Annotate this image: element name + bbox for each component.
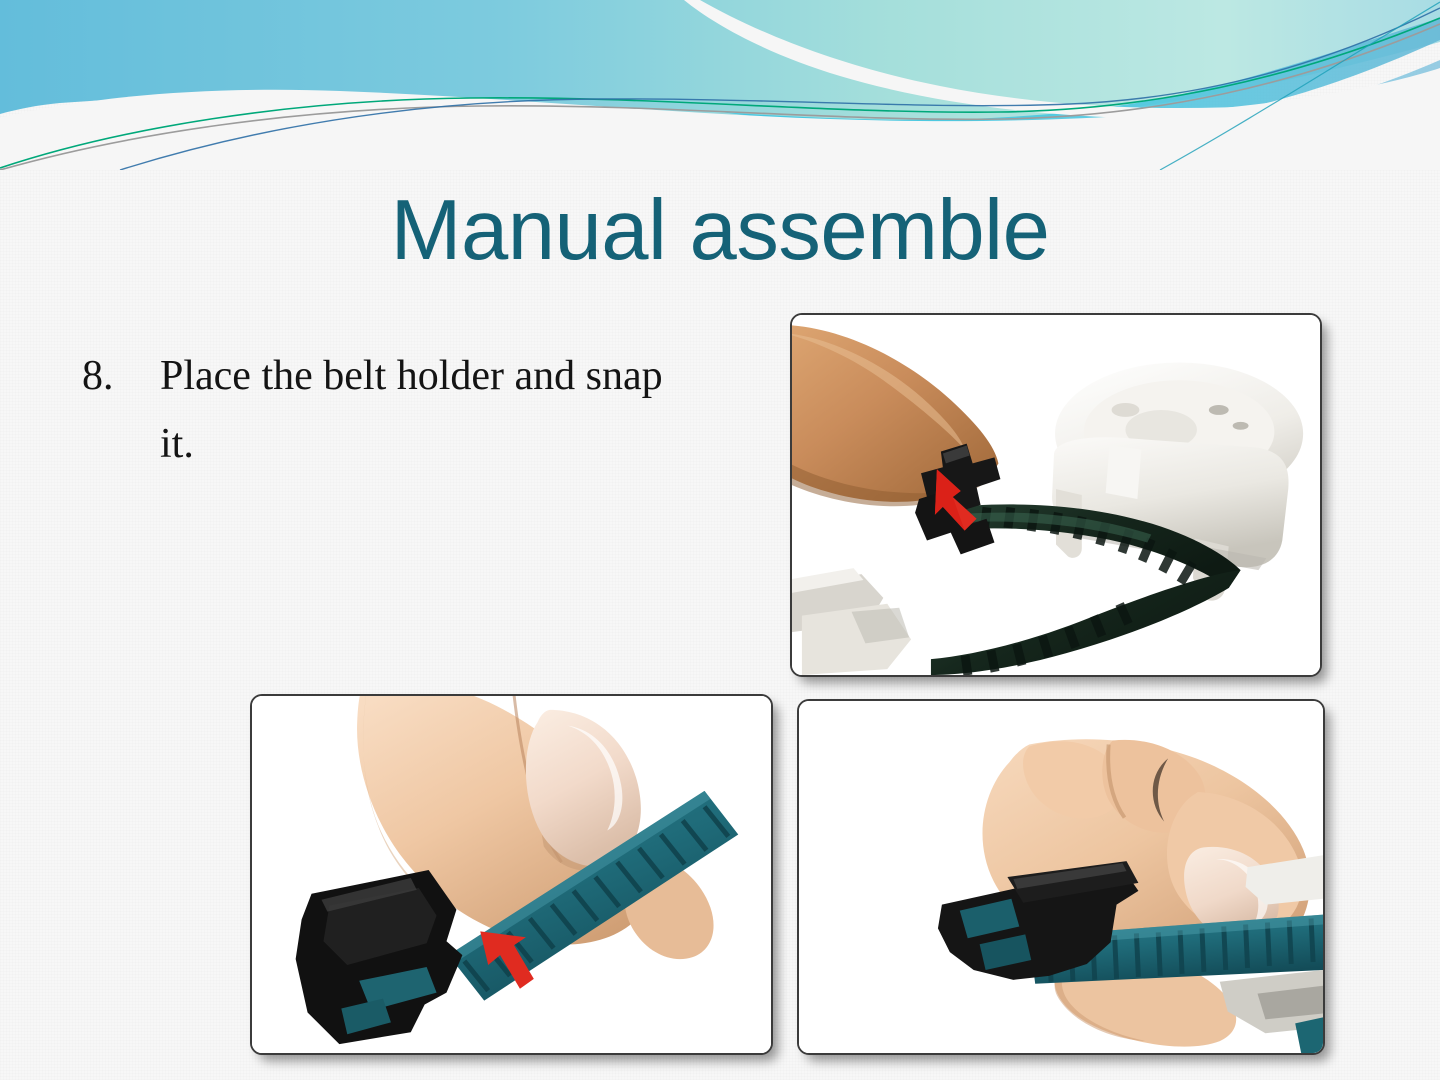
- pulley-hole-4: [1112, 403, 1140, 417]
- list-item-number: 8.: [82, 342, 160, 410]
- pulley-hole-1: [1209, 405, 1229, 415]
- photo-frame-belt-holder-placement: [790, 313, 1322, 677]
- presentation-slide: Manual assemble 8. Place the belt holder…: [0, 0, 1440, 1080]
- photo-canvas: [792, 315, 1320, 675]
- header-decoration-ribbon: [0, 0, 1440, 170]
- slide-body-text: 8. Place the belt holder and snap it.: [82, 342, 722, 478]
- photo-canvas: [252, 696, 771, 1053]
- photo-canvas: [799, 701, 1323, 1053]
- photo-frame-snap-holder-closed: [797, 699, 1325, 1055]
- pulley-hole-2: [1233, 422, 1249, 430]
- list-item: 8. Place the belt holder and snap it.: [82, 342, 722, 478]
- list-item-text: Place the belt holder and snap it.: [160, 342, 722, 478]
- housing-notch: [1106, 446, 1142, 499]
- photo-frame-belt-into-holder: [250, 694, 773, 1055]
- slide-title: Manual assemble: [0, 186, 1440, 275]
